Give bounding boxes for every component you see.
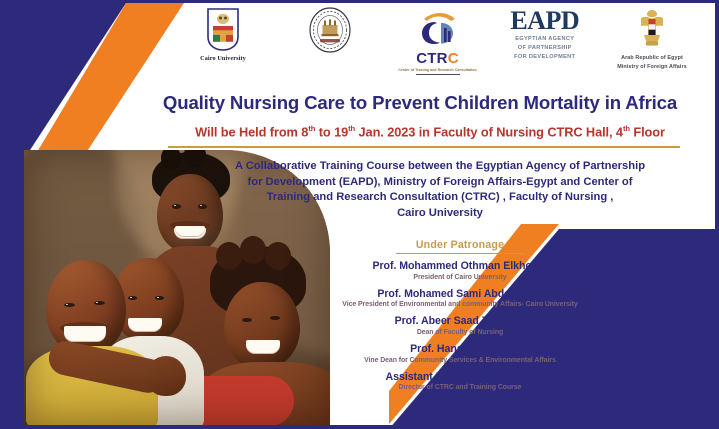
logo-strip: Cairo University (175, 6, 700, 78)
patronage-person: Assistant Prof. Amel Shaaban Director of… (300, 371, 620, 393)
eapd-acronym: EAPD (510, 6, 579, 36)
patronage-person-role: Director of CTRC and Training Course (300, 383, 620, 392)
patronage-person-role: President of Cairo University (300, 273, 620, 282)
ctrc-logo: CTR C Center of Training and Research Co… (390, 6, 486, 75)
gold-divider-rule (168, 146, 680, 148)
dateline-part-d: Floor (630, 124, 665, 139)
faculty-of-nursing-logo (282, 6, 378, 55)
course-description-line-2: for Development (EAPD), Ministry of Fore… (195, 175, 685, 191)
egypt-logo-line-2: Ministry of Foreign Affairs (617, 64, 687, 71)
patronage-person: Prof. Mohamed Sami Abdelsadek Vice Presi… (300, 288, 620, 310)
patronage-person-name: Prof. Hanan Ibrahim (300, 343, 620, 356)
patronage-person: Prof. Abeer Saad Zaghloul Dean of Facult… (300, 315, 620, 337)
patronage-person-role: Dean of Faculty of Nursing (300, 328, 620, 337)
patronage-people-list: Prof. Mohammed Othman Elkhosht President… (300, 260, 620, 398)
photo-left-navy-edge (0, 150, 24, 429)
event-dateline: Will be Held from 8th to 19th Jan. 2023 … (150, 124, 710, 139)
course-description-line-3: Training and Research Consultation (CTRC… (195, 190, 685, 206)
dateline-sup-3: th (623, 124, 630, 133)
patronage-person: Prof. Hanan Ibrahim Vine Dean for Commun… (300, 343, 620, 365)
patronage-person-role: Vice President of Environmental and comm… (300, 300, 620, 309)
eapd-line-1: EGYPTIAN AGENCY (515, 36, 574, 43)
patronage-person: Prof. Mohammed Othman Elkhosht President… (300, 260, 620, 282)
bottom-navy-rule (0, 425, 719, 429)
ctrc-wordmark-c: C (448, 50, 459, 67)
right-navy-rule (715, 0, 719, 429)
ctrc-mark-icon (413, 6, 463, 53)
course-description: A Collaborative Training Course between … (195, 159, 685, 221)
event-poster: Cairo University (0, 0, 719, 429)
patronage-person-name: Assistant Prof. Amel Shaaban (300, 371, 620, 384)
patronage-person-name: Prof. Abeer Saad Zaghloul (300, 315, 620, 328)
egypt-logo-line-1: Arab Republic of Egypt (621, 55, 683, 62)
page-title: Quality Nursing Care to Prevent Children… (130, 92, 710, 114)
dateline-part-b: to 19 (315, 124, 348, 139)
course-description-line-1: A Collaborative Training Course between … (195, 159, 685, 175)
eapd-wordmark-icon: EAPD (510, 6, 579, 36)
dateline-part-c: Jan. 2023 in Faculty of Nursing CTRC Hal… (355, 124, 623, 139)
ctrc-wordmark-ctr: CTR (416, 50, 447, 67)
eapd-line-3: FOR DEVELOPMENT (514, 54, 575, 61)
ctrc-underline (416, 74, 460, 75)
eapd-line-2: OF PARTNERSHIP (518, 45, 572, 52)
cairo-university-logo-caption: Cairo University (200, 55, 246, 62)
patronage-heading-underline (396, 253, 524, 254)
cairo-university-logo: Cairo University (175, 6, 271, 62)
faculty-of-nursing-seal-icon (308, 6, 352, 53)
patronage-person-role: Vine Dean for Community Services & Envir… (300, 356, 620, 365)
egypt-ministry-of-foreign-affairs-logo: Arab Republic of Egypt Ministry of Forei… (604, 6, 700, 71)
patronage-person-name: Prof. Mohamed Sami Abdelsadek (300, 288, 620, 301)
patronage-heading-label: Under Patronage (416, 239, 504, 251)
egypt-eagle-emblem-icon (637, 6, 667, 53)
course-description-line-4: Cairo University (195, 206, 685, 222)
dateline-part-a: Will be Held from 8 (195, 124, 308, 139)
cairo-university-shield-icon (206, 6, 240, 53)
eapd-logo: EAPD EGYPTIAN AGENCY OF PARTNERSHIP FOR … (497, 6, 593, 62)
ctrc-wordmark: CTR C (416, 50, 458, 67)
patronage-heading: Under Patronage (330, 239, 590, 254)
patronage-person-name: Prof. Mohammed Othman Elkhosht (300, 260, 620, 273)
ctrc-logo-subline: Center of Training and Research Consulta… (398, 68, 476, 73)
